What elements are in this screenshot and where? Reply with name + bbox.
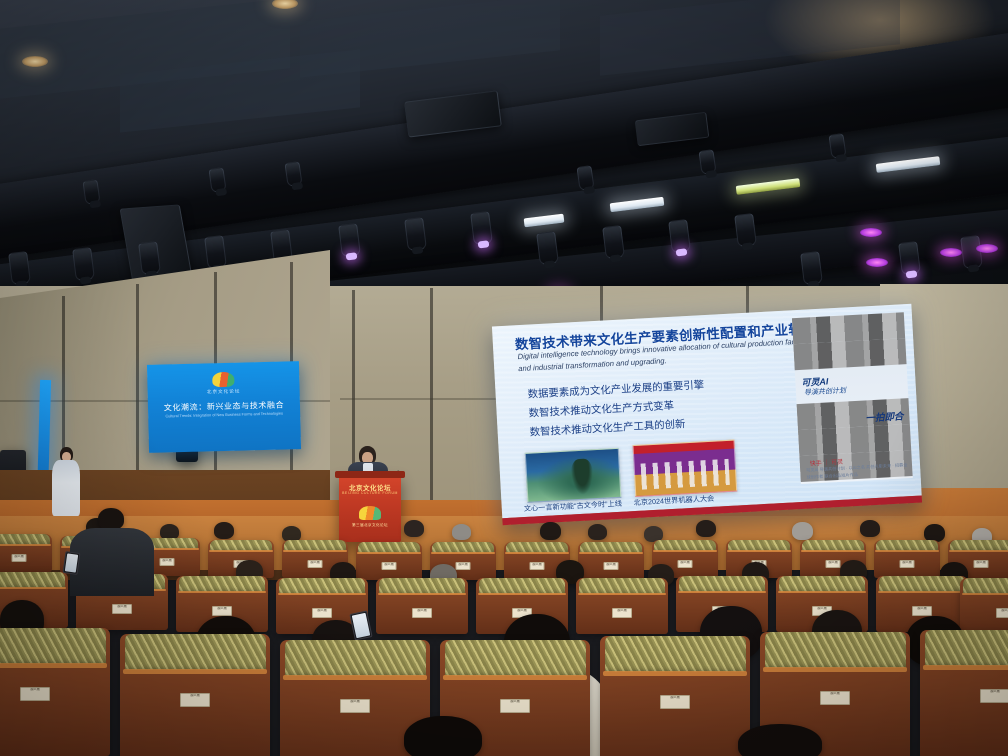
auditorium-seat[interactable]: 观众席 (600, 636, 750, 756)
seat-number-plate: 观众席 (974, 560, 989, 568)
stage-light-fixture (800, 251, 823, 285)
auditorium-seat[interactable]: 观众席 (960, 578, 1008, 634)
audience-head (860, 520, 880, 537)
seat-number-plate: 观众席 (996, 608, 1008, 618)
seat-number-plate: 观众席 (530, 562, 545, 570)
stage-light-fixture (338, 223, 361, 257)
seat-number-plate: 观众席 (500, 699, 530, 713)
uplight-glow (940, 248, 962, 257)
slide-bullet-list: 数据要素成为文化产业发展的重要引擎 数智技术推动文化生产方式变革 数智技术推动文… (527, 372, 800, 443)
seat-number-plate: 观众席 (820, 691, 850, 705)
auditorium-seat[interactable]: 观众席 (120, 634, 270, 756)
smartphone[interactable] (63, 551, 81, 575)
seat-number-plate: 观众席 (612, 608, 632, 618)
forum-logo-caption: 北京文化论坛 (207, 389, 241, 396)
seat-number-plate: 观众席 (180, 693, 210, 707)
audience-head (214, 522, 234, 539)
auditorium-seat[interactable]: 观众席 (576, 578, 668, 634)
seat-number-plate: 观众席 (826, 560, 841, 568)
audience-head (452, 524, 471, 540)
poster-tagline: 一拍即合 (865, 408, 904, 424)
seat-number-plate: 观众席 (604, 562, 619, 570)
podium: 北京文化论坛 BEIJING CULTURE FORUM 第三届北京文化论坛 (339, 476, 401, 542)
seat-number-plate: 观众席 (900, 560, 915, 568)
audience-head (792, 522, 813, 540)
stage-light-fixture (284, 161, 302, 187)
stage-light-fixture (828, 133, 846, 159)
forum-logo-icon (212, 372, 234, 388)
forum-emblem-icon (359, 506, 381, 520)
stage-light-fixture (470, 211, 493, 245)
main-presentation-screen: 数智技术带来文化生产要素创新性配置和产业转型升级 Digital intelli… (492, 304, 922, 525)
stage-light-fixture (668, 219, 691, 253)
seat-number-plate: 观众席 (456, 562, 471, 570)
audience-head (588, 524, 607, 540)
stage-light-fixture (734, 213, 757, 247)
stage-light-fixture (576, 165, 594, 191)
stage-light-fixture (602, 225, 625, 259)
stage-light-fixture (204, 235, 227, 269)
podium-name-en: BEIJING CULTURE FORUM (339, 491, 401, 495)
auditorium-seat[interactable]: 观众席 (356, 542, 422, 580)
uplight-glow (866, 258, 888, 267)
stage-light-fixture (898, 241, 921, 275)
auditorium-seat[interactable]: 观众席 (0, 534, 52, 572)
auditorium-seat[interactable]: 观众席 (578, 542, 644, 580)
stage-light-fixture (138, 241, 161, 275)
seat-number-plate: 观众席 (312, 608, 332, 618)
seat-number-plate: 观众席 (308, 560, 323, 568)
poster-program: 导演共创计划 (804, 385, 846, 397)
stage-light-fixture (404, 217, 427, 251)
auditorium-seat[interactable]: 观众席 (920, 630, 1008, 756)
standing-attendee-body (70, 528, 154, 596)
audience-head (540, 522, 561, 540)
side-display-screen: 北京文化论坛 文化潮流：新兴业态与技术融合 Cultural Trends: I… (147, 361, 301, 453)
seat-number-plate: 观众席 (678, 560, 693, 568)
podium-top-edge (335, 471, 405, 478)
seat-number-plate: 观众席 (12, 554, 27, 562)
seat-number-plate: 观众席 (980, 689, 1008, 703)
seat-number-plate: 观众席 (212, 606, 232, 616)
stage-light-fixture (82, 179, 100, 205)
audience-head (738, 724, 822, 756)
seat-number-plate: 观众席 (912, 606, 932, 616)
conference-hall-photo: 数智技术带来文化生产要素创新性配置和产业转型升级 Digital intelli… (0, 0, 1008, 756)
podium-emblem-caption: 第三届北京文化论坛 (339, 523, 401, 528)
stage-light-fixture (536, 231, 559, 265)
audience-head (404, 520, 424, 537)
stage-light-fixture (698, 149, 716, 175)
standing-attendee-head (98, 508, 124, 530)
auditorium-seat[interactable]: 观众席 (874, 540, 940, 578)
stage-light-fixture (8, 251, 31, 285)
seat-number-plate: 观众席 (660, 695, 690, 709)
seat-number-plate: 观众席 (160, 558, 175, 566)
seat-number-plate: 观众席 (412, 608, 432, 618)
stage-light-fixture (208, 167, 226, 193)
downlight (22, 56, 48, 67)
host-body (52, 460, 80, 516)
seat-number-plate: 观众席 (382, 562, 397, 570)
auditorium-seat[interactable]: 观众席 (0, 628, 110, 756)
slide-image-ancient-text (525, 448, 622, 503)
uplight-glow (860, 228, 882, 237)
auditorium-seat[interactable]: 观众席 (376, 578, 468, 634)
ceiling-tile (300, 0, 560, 78)
seat-number-plate: 观众席 (20, 687, 50, 701)
uplight-glow (976, 244, 998, 253)
seat-number-plate: 观众席 (112, 604, 132, 614)
seat-number-plate: 观众席 (340, 699, 370, 713)
stage-light-fixture (72, 247, 95, 281)
downlight (272, 0, 298, 9)
audience-head (404, 716, 482, 756)
audience-head (696, 520, 716, 537)
slide-image-robot-conference (633, 440, 738, 497)
slide-image-kling-ai-poster: 可灵AI 导演共创计划 一拍即合 快手 ｜ 可灵 可灵AI 导演共创计划 · 以… (792, 312, 913, 484)
